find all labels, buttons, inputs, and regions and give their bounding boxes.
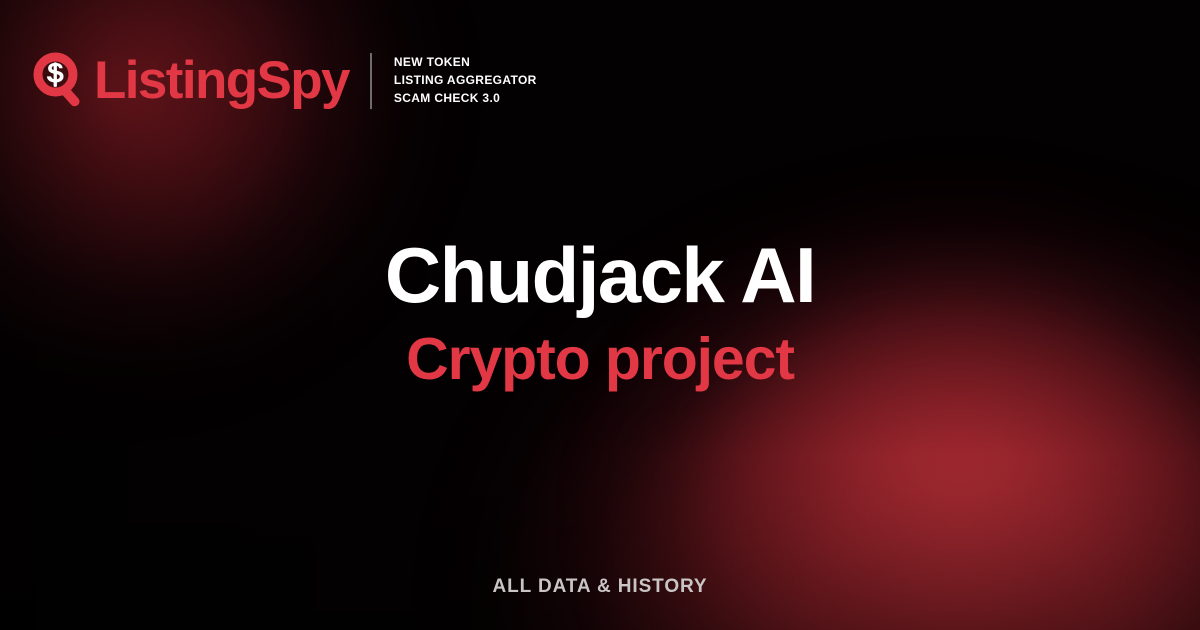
footer-section: ALL DATA & HISTORY <box>0 576 1200 598</box>
brand-wordmark: ListingSpy <box>94 54 349 107</box>
brand-tagline: NEW TOKEN LISTING AGGREGATOR SCAM CHECK … <box>394 55 537 106</box>
footer-caption: ALL DATA & HISTORY <box>493 576 708 597</box>
tagline-line-1: NEW TOKEN <box>394 55 537 71</box>
magnifier-dollar-icon <box>32 52 88 110</box>
hero-section: Chudjack AI Crypto project <box>0 236 1200 389</box>
tagline-line-2: LISTING AGGREGATOR <box>394 73 537 89</box>
share-card: ListingSpy NEW TOKEN LISTING AGGREGATOR … <box>0 0 1200 630</box>
page-title: Chudjack AI <box>0 236 1200 316</box>
tagline-line-3: SCAM CHECK 3.0 <box>394 91 537 107</box>
header-divider <box>370 53 372 109</box>
brand-header: ListingSpy NEW TOKEN LISTING AGGREGATOR … <box>32 52 537 110</box>
page-subtitle: Crypto project <box>0 329 1200 389</box>
